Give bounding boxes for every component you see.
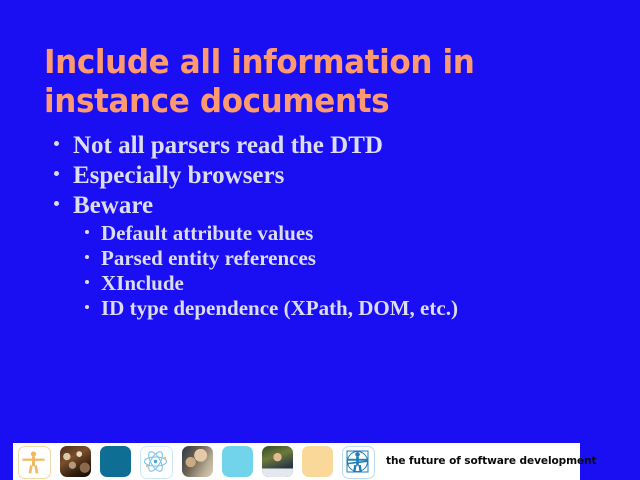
bullet-level2: Parsed entity references [50,246,620,271]
crowd-photo-image [60,446,91,477]
bullet-level2: XInclude [50,271,620,296]
bullet-text: Beware [73,191,620,220]
person-at-laptop-photo [262,446,293,477]
crowd-photo [60,446,91,477]
atom-diagram-icon [140,446,173,479]
bullet-level2: ID type dependence (XPath, DOM, etc.) [50,296,620,321]
bullet-dot-icon [54,201,59,206]
bullet-dot-icon [54,171,59,176]
bullet-dot-icon [85,230,89,234]
slide-title: Include all information in instance docu… [44,42,570,120]
bullet-text: XInclude [101,271,620,296]
vitruvian-figure-blue-icon [342,446,375,479]
teal-swatch [100,446,131,477]
bullet-level1: Not all parsers read the DTD [50,131,620,161]
man-portrait-photo-image [182,446,213,477]
bullet-level1: Beware [50,191,620,221]
bullet-level1: Especially browsers [50,161,620,191]
slide-body-list: Not all parsers read the DTD Especially … [50,131,620,321]
bullet-dot-icon [85,305,89,309]
person-at-laptop-photo-image [262,446,293,477]
peach-swatch [302,446,333,477]
footer-bar: the future of software development [13,443,580,480]
slide-canvas: Include all information in instance docu… [0,0,640,480]
vitruvian-figure-tan-icon [18,446,51,479]
footer-tagline: the future of software development [386,454,596,468]
bullet-text: Especially browsers [73,161,620,190]
bullet-text: ID type dependence (XPath, DOM, etc.) [101,296,620,321]
man-portrait-photo [182,446,213,477]
bullet-text: Default attribute values [101,221,620,246]
bullet-text: Parsed entity references [101,246,620,271]
bullet-dot-icon [85,255,89,259]
bullet-level2: Default attribute values [50,221,620,246]
bullet-dot-icon [54,141,59,146]
footer-tile-strip [18,446,375,479]
bullet-dot-icon [85,280,89,284]
bullet-text: Not all parsers read the DTD [73,131,620,160]
cyan-swatch [222,446,253,477]
